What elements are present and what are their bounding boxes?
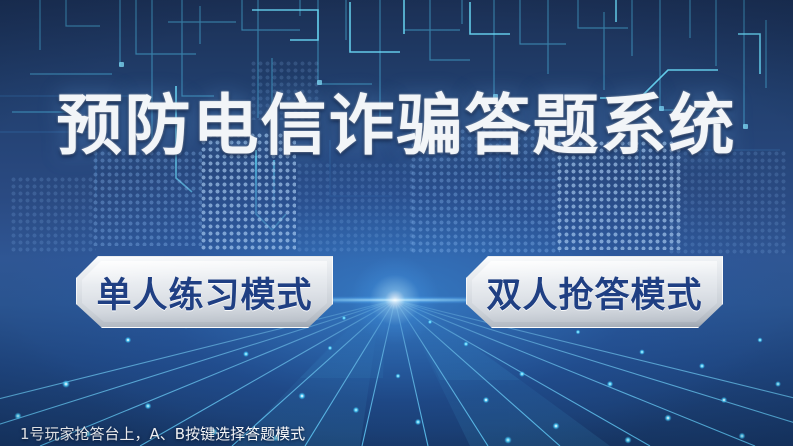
dot-matrix-patch	[10, 176, 96, 252]
footer-hint-text: 1号玩家抢答台上，A、B按键选择答题模式	[20, 424, 305, 444]
mode-button-duel-buzzer-label: 双人抢答模式	[486, 267, 702, 318]
mode-button-duel-buzzer[interactable]: 双人抢答模式	[466, 256, 723, 328]
page-title: 预防电信诈骗答题系统	[0, 86, 793, 166]
app-screen: 预防电信诈骗答题系统 单人练习模式 双人抢答模式 1号玩家抢答台上，A、B按键选…	[0, 0, 793, 446]
dot-matrix-patch	[296, 162, 416, 254]
mode-button-single-practice-label: 单人练习模式	[96, 267, 312, 318]
mode-button-single-practice[interactable]: 单人练习模式	[76, 256, 333, 328]
